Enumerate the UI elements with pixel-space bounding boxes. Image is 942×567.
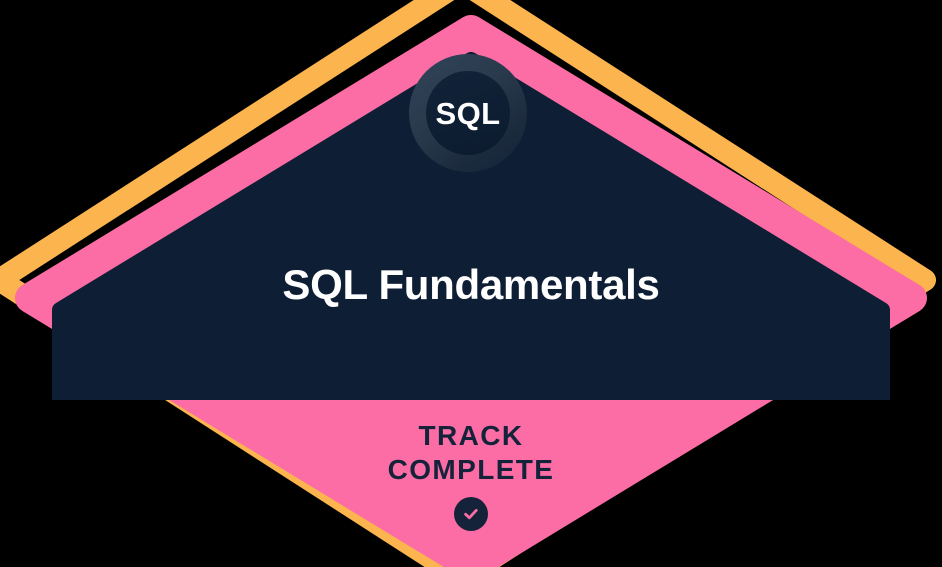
completion-status-line-1: TRACK: [0, 419, 942, 453]
completion-status-block: TRACK COMPLETE: [0, 419, 942, 531]
skill-ring-badge-center: SQL: [426, 71, 510, 155]
skill-ring-badge: SQL: [409, 54, 527, 172]
skill-abbreviation-label: SQL: [436, 98, 501, 129]
track-completion-badge: SQL SQL Fundamentals TRACK COMPLETE: [0, 0, 942, 567]
track-title: SQL Fundamentals: [0, 256, 942, 314]
check-icon: [454, 497, 488, 531]
completion-status-line-2: COMPLETE: [0, 453, 942, 487]
check-icon-glyph: [461, 504, 481, 524]
